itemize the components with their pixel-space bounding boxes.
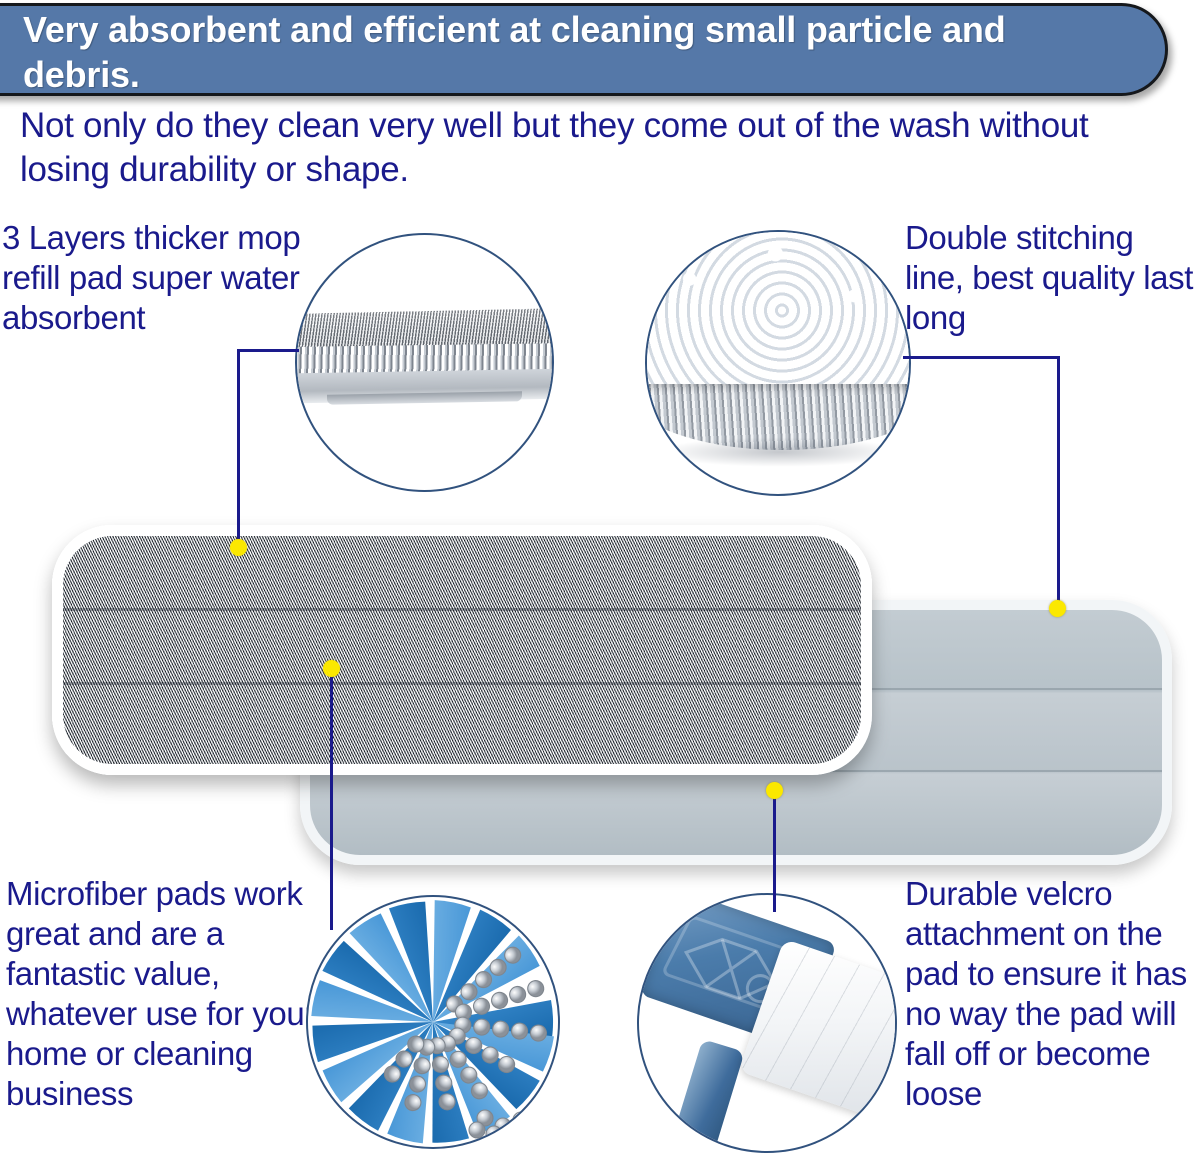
leader-line-top-right-vertical (1057, 356, 1060, 608)
inset-pad-cross-section (295, 233, 554, 492)
fan-and-beads-image (308, 897, 558, 1147)
callout-label-bottom-right: Durable velcro attachment on the pad to … (905, 874, 1197, 1114)
leader-line-bottom-right-vertical (773, 790, 776, 912)
leader-line-bottom-left-vertical (330, 668, 333, 930)
inset-double-stitching-closeup (645, 230, 911, 496)
callout-label-top-left: 3 Layers thicker mop refill pad super wa… (2, 218, 302, 338)
leader-line-top-left-vertical (237, 349, 240, 545)
callout-dot-bottom-right (766, 782, 783, 799)
infographic-canvas: Very absorbent and efficient at cleaning… (0, 0, 1199, 1170)
inset-microfiber-fan-diagram (306, 895, 560, 1149)
callout-dot-top-right (1049, 600, 1066, 617)
callout-label-top-right: Double stitching line, best quality last… (905, 218, 1199, 338)
headline-text: Very absorbent and efficient at cleaning… (23, 7, 1073, 97)
leader-line-top-right-horizontal (903, 356, 1060, 359)
pad-cross-section-image (297, 235, 552, 490)
stitched-pad-image (647, 232, 909, 494)
mop-head-velcro-image (639, 895, 895, 1151)
inset-velcro-attachment-closeup (637, 893, 897, 1153)
headline-banner: Very absorbent and efficient at cleaning… (0, 3, 1168, 96)
leader-line-top-left-horizontal (237, 349, 299, 352)
subheadline-text: Not only do they clean very well but the… (20, 104, 1180, 192)
callout-dot-top-left (230, 539, 247, 556)
callout-dot-bottom-left (323, 660, 340, 677)
callout-label-bottom-left: Microfiber pads work great and are a fan… (6, 874, 346, 1114)
mop-pad-front-microfiber-side (52, 525, 872, 775)
radial-fan-icon (308, 897, 558, 1147)
